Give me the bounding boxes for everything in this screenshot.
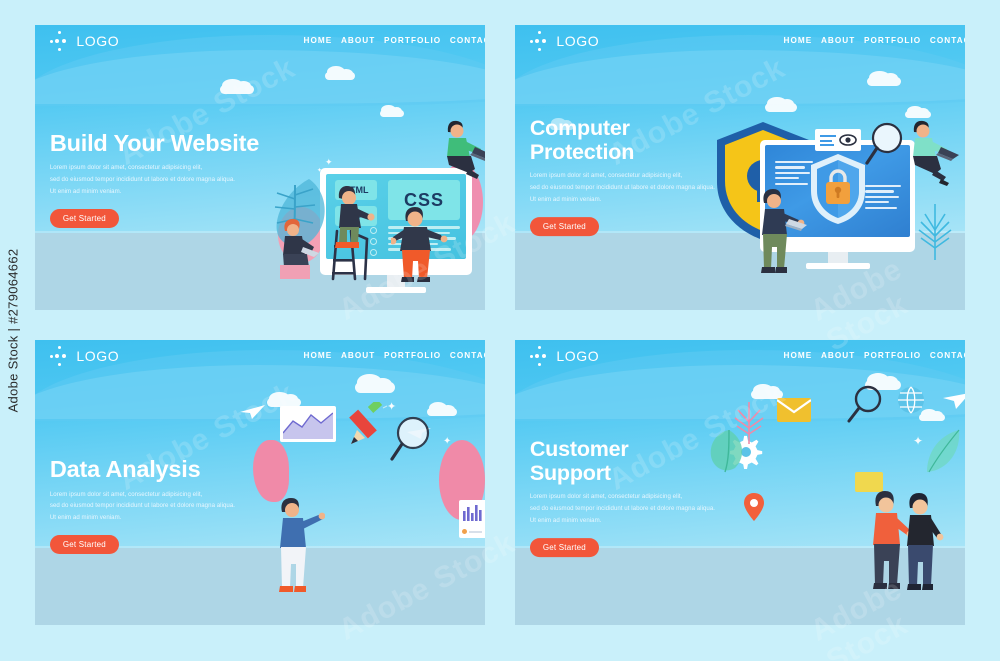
chart-card: [280, 406, 336, 442]
get-started-button[interactable]: Get Started: [530, 538, 599, 557]
leaf-plant: [921, 428, 963, 474]
panel-build-your-website: ✦ ✦ LOGO HOME ABOUT PORTFOLIO CONTACT: [35, 25, 485, 310]
cloud-icon: [325, 72, 355, 80]
leaf-fan-icon: [915, 200, 955, 262]
hero-description-line: sed do eiusmod tempor incididunt ut labo…: [530, 503, 746, 515]
panel-customer-support: LOGO HOME ABOUT PORTFOLIO CONTACT Custom…: [515, 340, 965, 625]
main-nav: HOME ABOUT PORTFOLIO CONTACT: [304, 351, 471, 360]
nav-item-contact[interactable]: CONTACT: [450, 351, 485, 360]
hero-description-line: Ut enim ad minim veniam.: [530, 515, 746, 527]
nav-item-home[interactable]: HOME: [304, 351, 333, 360]
nav-item-contact[interactable]: CONTACT: [930, 351, 965, 360]
page-title-line: Customer: [530, 437, 629, 461]
man-sitting-laptop-top: [439, 117, 485, 185]
sparkle-icon: ✦: [325, 157, 333, 168]
man-pointing: [273, 492, 325, 600]
nav-item-contact[interactable]: CONTACT: [930, 36, 965, 45]
sparkle-icon: ✦: [443, 436, 451, 447]
hero-description-line: sed do eiusmod tempor incididunt ut labo…: [50, 174, 266, 186]
nav-item-portfolio[interactable]: PORTFOLIO: [384, 36, 441, 45]
man-sitting-laptop-left: [276, 217, 322, 281]
line-chart-icon: [283, 409, 333, 439]
nav-item-about[interactable]: ABOUT: [821, 351, 855, 360]
panel-ground: [35, 548, 485, 625]
magnifier-icon: [390, 415, 432, 463]
panel-header: LOGO HOME ABOUT PORTFOLIO CONTACT: [515, 25, 965, 56]
magnifier-icon: [847, 384, 883, 424]
page-title-line: Protection: [530, 140, 634, 164]
monitor-base: [806, 263, 870, 269]
man-standing-laptop: [753, 185, 807, 277]
logo-text: LOGO: [76, 33, 119, 49]
cloud-icon: [765, 103, 797, 112]
nav-item-portfolio[interactable]: PORTFOLIO: [864, 36, 921, 45]
panel-header: LOGO HOME ABOUT PORTFOLIO CONTACT: [35, 340, 485, 371]
hero-description-line: sed do eiusmod tempor incididunt ut labo…: [530, 182, 746, 194]
hero-description: Lorem ipsum dolor sit amet, consectetur …: [530, 491, 746, 527]
hero-copy: Customer Support Lorem ipsum dolor sit a…: [530, 437, 746, 557]
nav-item-home[interactable]: HOME: [784, 36, 813, 45]
globe-icon: [897, 386, 925, 414]
hero-copy: Data Analysis Lorem ipsum dolor sit amet…: [50, 456, 266, 554]
logo[interactable]: LOGO: [529, 30, 599, 52]
logo-text: LOGO: [76, 348, 119, 364]
get-started-button[interactable]: Get Started: [50, 535, 119, 554]
man-dark-shirt: [899, 488, 947, 598]
envelope-icon: [777, 398, 811, 422]
dots-diamond-icon: [49, 345, 71, 367]
page-title-line: Computer: [530, 116, 630, 140]
nav-item-portfolio[interactable]: PORTFOLIO: [384, 351, 441, 360]
hero-description-line: Lorem ipsum dolor sit amet, consectetur …: [50, 162, 266, 174]
nav-item-about[interactable]: ABOUT: [821, 36, 855, 45]
hero-description-line: Ut enim ad minim veniam.: [530, 194, 746, 206]
hero-description-line: Lorem ipsum dolor sit amet, consectetur …: [530, 170, 746, 182]
main-nav: HOME ABOUT PORTFOLIO CONTACT: [784, 36, 951, 45]
hero-description-line: sed do eiusmod tempor incididunt ut labo…: [50, 501, 266, 513]
paper-plane-icon: [240, 404, 266, 420]
man-sitting-laptop-top: [905, 117, 961, 189]
sparkle-icon: ✦: [387, 400, 396, 413]
page-title: Customer Support: [530, 437, 746, 485]
hero-description-line: Lorem ipsum dolor sit amet, consectetur …: [50, 489, 266, 501]
hero-description-line: Ut enim ad minim veniam.: [50, 186, 266, 198]
hero-description: Lorem ipsum dolor sit amet, consectetur …: [530, 170, 746, 206]
edge-watermark-text: Adobe Stock | #279064662: [6, 249, 21, 413]
dots-diamond-icon: [529, 30, 551, 52]
nav-item-portfolio[interactable]: PORTFOLIO: [864, 351, 921, 360]
main-nav: HOME ABOUT PORTFOLIO CONTACT: [304, 36, 471, 45]
logo-text: LOGO: [556, 348, 599, 364]
nav-item-home[interactable]: HOME: [784, 351, 813, 360]
panel-computer-protection: LOGO HOME ABOUT PORTFOLIO CONTACT Comput…: [515, 25, 965, 310]
hero-description-line: Lorem ipsum dolor sit amet, consectetur …: [530, 491, 746, 503]
hero-description-line: Ut enim ad minim veniam.: [50, 512, 266, 524]
nav-item-about[interactable]: ABOUT: [341, 351, 375, 360]
monitor-base: [366, 287, 426, 293]
screen-text-lines: [775, 161, 813, 188]
hero-description: Lorem ipsum dolor sit amet, consectetur …: [50, 162, 266, 198]
logo[interactable]: LOGO: [529, 345, 599, 367]
location-pin-icon: [743, 492, 765, 522]
logo[interactable]: LOGO: [49, 30, 119, 52]
shield-padlock-icon: [809, 153, 867, 225]
eye-card-icon: [815, 129, 861, 151]
page-title: Data Analysis: [50, 456, 266, 482]
paper-plane-icon: [943, 392, 965, 410]
man-arms-open: [391, 203, 453, 285]
page-title-line: Support: [530, 461, 611, 485]
logo-text: LOGO: [556, 33, 599, 49]
cloud-icon: [355, 382, 395, 393]
panel-header: LOGO HOME ABOUT PORTFOLIO CONTACT: [35, 25, 485, 56]
page-title: Build Your Website: [50, 130, 266, 156]
main-nav: HOME ABOUT PORTFOLIO CONTACT: [784, 351, 951, 360]
nav-item-home[interactable]: HOME: [304, 36, 333, 45]
mini-chart-card: [459, 500, 485, 538]
bar-chart-icon: [462, 503, 484, 521]
get-started-button[interactable]: Get Started: [530, 217, 599, 236]
cloud-icon: [919, 414, 945, 421]
dots-diamond-icon: [529, 345, 551, 367]
screen-text-lines: [865, 185, 901, 212]
get-started-button[interactable]: Get Started: [50, 209, 119, 228]
poster-canvas: Adobe Stock | #279064662 ✦ ✦ LOGO HOME A…: [0, 0, 1000, 661]
cloud-icon: [380, 110, 404, 117]
nav-item-about[interactable]: ABOUT: [341, 36, 375, 45]
magnifier-icon: [865, 121, 905, 167]
hero-copy: Build Your Website Lorem ipsum dolor sit…: [50, 130, 266, 228]
panel-data-analysis: LOGO HOME ABOUT PORTFOLIO CONTACT Data A…: [35, 340, 485, 625]
dots-diamond-icon: [49, 30, 71, 52]
hero-description: Lorem ipsum dolor sit amet, consectetur …: [50, 489, 266, 525]
edge-watermark: Adobe Stock | #279064662: [0, 0, 26, 661]
page-title: Computer Protection: [530, 116, 746, 164]
panel-header: LOGO HOME ABOUT PORTFOLIO CONTACT: [515, 340, 965, 371]
logo[interactable]: LOGO: [49, 345, 119, 367]
nav-item-contact[interactable]: CONTACT: [450, 36, 485, 45]
cloud-icon: [220, 85, 254, 94]
cloud-icon: [867, 77, 901, 86]
hero-copy: Computer Protection Lorem ipsum dolor si…: [530, 116, 746, 236]
man-on-ladder: [327, 180, 375, 255]
